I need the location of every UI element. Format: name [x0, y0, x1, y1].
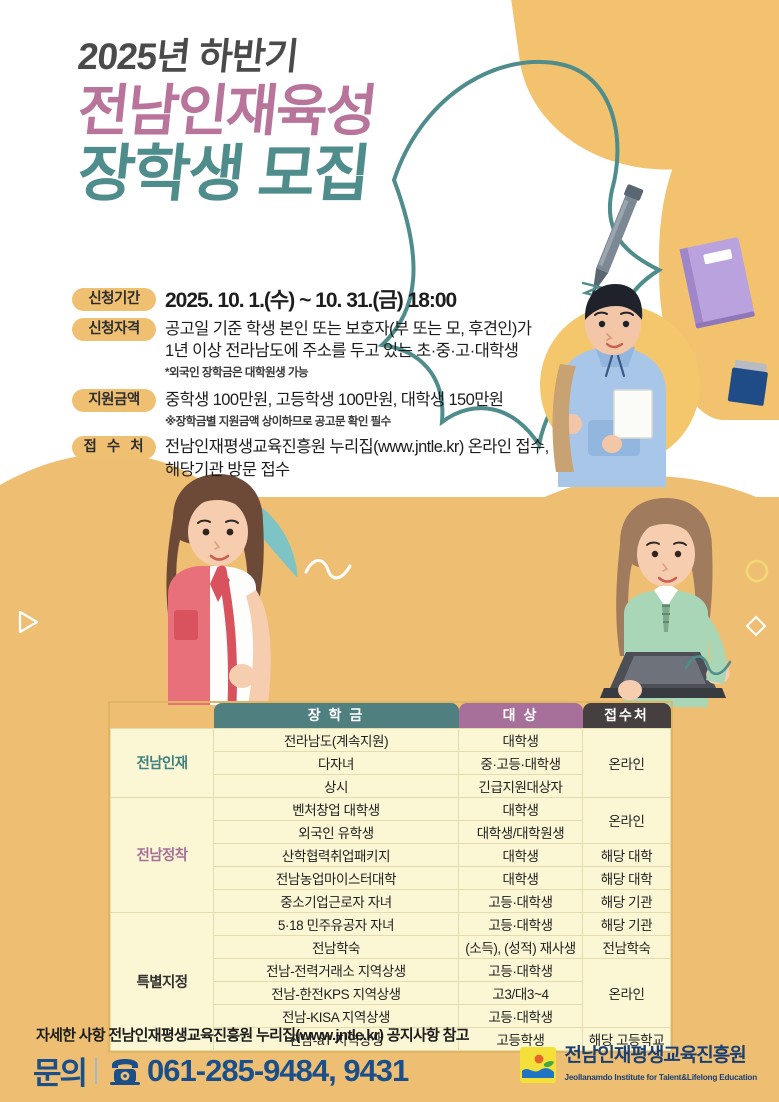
info-row-eligibility: 신청자격 공고일 기준 학생 본인 또는 보호자(부 또는 모, 후견인)가 1…	[72, 318, 592, 381]
table-cell-target: 고등·대학생	[459, 889, 583, 912]
table-cell-scholarship: 전남-한전KPS 지역상생	[214, 981, 459, 1004]
table-cell-target: 긴급지원대상자	[459, 774, 583, 797]
triangle-decoration	[14, 608, 42, 636]
institute-name-ko: 전남인재평생교육진흥원	[564, 1045, 745, 1066]
table-cell-target: 대학생	[459, 728, 583, 751]
table-cell-scholarship: 상시	[214, 774, 459, 797]
table-header-scholarship: 장 학 금	[214, 703, 459, 728]
table-header-target: 대 상	[459, 703, 583, 728]
info-row-amount: 지원금액 중학생 100만원, 고등학생 100만원, 대학생 150만원 ※장…	[72, 389, 592, 429]
info-note-eligibility: *외국인 장학금은 대학원생 가능	[165, 364, 531, 380]
table-header-place: 접수처	[583, 703, 671, 728]
table-cell-scholarship: 전남학숙	[214, 935, 459, 958]
footer-inquiry-label: 문의	[33, 1048, 86, 1093]
squiggle-decoration-right	[680, 640, 740, 680]
table-header-category	[111, 703, 214, 728]
table-cell-target: 대학생	[459, 843, 583, 866]
headline-line2: 장학생 모집	[75, 142, 379, 207]
squiggle-decoration-left	[298, 530, 368, 590]
table-cell-place: 해당 대학	[583, 843, 671, 866]
footer-divider	[95, 1058, 97, 1084]
institute-name-en: Jeollanamdo Institute for Talent&Lifelon…	[564, 1073, 757, 1082]
info-value-application-period: 2025. 10. 1.(수) ~ 10. 31.(금) 18:00	[165, 288, 456, 313]
headline-line1: 전남인재육성	[75, 81, 378, 140]
table-cell-place: 온라인	[583, 797, 671, 843]
table-cell-scholarship: 산학협력취업패키지	[214, 843, 459, 866]
info-label-amount: 지원금액	[72, 389, 156, 412]
footer-note: 자세한 사항 전남인재평생교육진흥원 누리집(www.jntle.kr) 공지사…	[36, 1024, 469, 1045]
info-row-application-period: 신청기간 2025. 10. 1.(수) ~ 10. 31.(금) 18:00	[72, 288, 592, 313]
table-cell-target: (소득), (성적) 재사생	[459, 935, 583, 958]
telephone-icon	[108, 1056, 142, 1086]
table-cell-target: 대학생	[459, 797, 583, 820]
scholarship-table-wrapper: 장 학 금 대 상 접수처 전남인재전라남도(계속지원)대학생온라인다자녀중·고…	[110, 703, 670, 1051]
info-label-application-period: 신청기간	[72, 288, 156, 311]
left-student-illustration	[118, 470, 308, 705]
table-row: 전남정착벤처창업 대학생대학생온라인	[111, 797, 671, 820]
info-label-application-place: 접 수 처	[72, 436, 156, 459]
table-cell-place: 해당 대학	[583, 866, 671, 889]
footer-logo: 전남인재평생교육진흥원 Jeollanamdo Institute for Ta…	[520, 1046, 757, 1085]
table-cell-target: 고등·대학생	[459, 958, 583, 981]
table-cell-target: 고3/대3~4	[459, 981, 583, 1004]
table-cell-scholarship: 중소기업근로자 자녀	[214, 889, 459, 912]
table-cell-target: 대학생	[459, 866, 583, 889]
table-cell-scholarship: 전남-전력거래소 지역상생	[214, 958, 459, 981]
headline-year: 2025년 하반기	[76, 38, 377, 75]
table-cell-scholarship: 벤처창업 대학생	[214, 797, 459, 820]
info-value-application-place: 전남인재평생교육진흥원 누리집(www.jntle.kr) 온라인 접수, 해당…	[165, 436, 549, 482]
footer-contact: 문의 061-285-9484, 9431	[33, 1048, 408, 1093]
poster-headline: 2025년 하반기 전남인재육성 장학생 모집	[78, 38, 375, 207]
table-cell-category: 전남정착	[111, 797, 214, 912]
info-note-amount: ※장학금별 지원금액 상이하므로 공고문 확인 필수	[165, 413, 503, 429]
table-cell-target: 고등·대학생	[459, 912, 583, 935]
info-value-eligibility: 공고일 기준 학생 본인 또는 보호자(부 또는 모, 후견인)가 1년 이상 …	[165, 318, 531, 381]
scholarship-table: 장 학 금 대 상 접수처 전남인재전라남도(계속지원)대학생온라인다자녀중·고…	[110, 703, 671, 1051]
table-cell-scholarship: 5·18 민주유공자 자녀	[214, 912, 459, 935]
table-row: 전남인재전라남도(계속지원)대학생온라인	[111, 728, 671, 751]
institute-logo-mark	[520, 1047, 556, 1083]
table-cell-place: 해당 기관	[583, 912, 671, 935]
info-value-amount: 중학생 100만원, 고등학생 100만원, 대학생 150만원 ※장학금별 지…	[165, 389, 503, 429]
poster-root: 2025년 하반기 전남인재육성 장학생 모집 신청기간 2025. 10. 1…	[0, 0, 779, 1102]
table-cell-target: 중·고등·대학생	[459, 751, 583, 774]
info-label-eligibility: 신청자격	[72, 318, 156, 341]
table-row: 특별지정5·18 민주유공자 자녀고등·대학생해당 기관	[111, 912, 671, 935]
scholarship-table-body: 전남인재전라남도(계속지원)대학생온라인다자녀중·고등·대학생상시긴급지원대상자…	[111, 728, 671, 1050]
poster-footer: 자세한 사항 전남인재평생교육진흥원 누리집(www.jntle.kr) 공지사…	[0, 1016, 779, 1102]
table-cell-place: 전남학숙	[583, 935, 671, 958]
info-section: 신청기간 2025. 10. 1.(수) ~ 10. 31.(금) 18:00 …	[72, 288, 592, 487]
table-cell-place: 온라인	[583, 728, 671, 797]
institute-logo-text: 전남인재평생교육진흥원 Jeollanamdo Institute for Ta…	[564, 1046, 757, 1085]
table-cell-scholarship: 다자녀	[214, 751, 459, 774]
info-row-application-place: 접 수 처 전남인재평생교육진흥원 누리집(www.jntle.kr) 온라인 …	[72, 436, 592, 482]
navy-book-icon	[722, 356, 778, 416]
table-cell-scholarship: 전라남도(계속지원)	[214, 728, 459, 751]
table-cell-category: 전남인재	[111, 728, 214, 797]
table-cell-place: 해당 기관	[583, 889, 671, 912]
footer-phone-number[interactable]: 061-285-9484, 9431	[147, 1053, 408, 1089]
table-header-row: 장 학 금 대 상 접수처	[111, 703, 671, 728]
table-cell-scholarship: 전남농업마이스터대학	[214, 866, 459, 889]
table-cell-scholarship: 외국인 유학생	[214, 820, 459, 843]
table-cell-target: 대학생/대학원생	[459, 820, 583, 843]
